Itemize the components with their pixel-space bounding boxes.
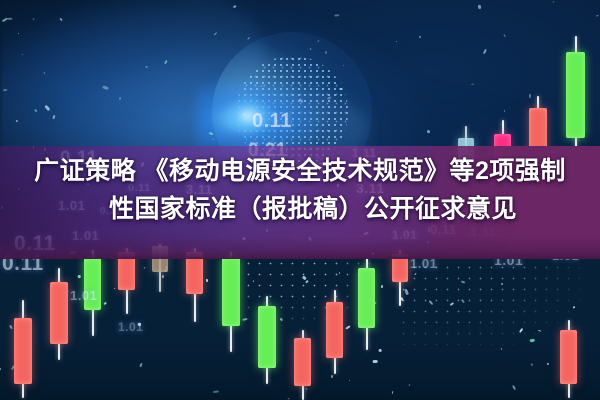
- candle-body: [222, 258, 240, 326]
- sparkle-dot: [212, 138, 215, 140]
- candle-body: [50, 282, 68, 344]
- candle-body: [294, 338, 311, 386]
- candle-body: [14, 318, 32, 384]
- candle-body: [326, 302, 343, 358]
- candle-body: [258, 306, 276, 368]
- headline-line-1: 广证策略 《移动电源安全技术规范》等2项强制: [0, 152, 600, 190]
- banner-image: 0.110.110.111.011.011.010.110.211.010.11…: [0, 0, 600, 400]
- candle-body: [560, 330, 577, 384]
- headline-band-bottom-fade: [0, 236, 600, 259]
- candle-body: [358, 268, 375, 328]
- sparkle-dot: [552, 0, 554, 2]
- headline-text: 广证策略 《移动电源安全技术规范》等2项强制 性国家标准（报批稿）公开征求意见: [0, 152, 600, 228]
- headline-line-2: 性国家标准（报批稿）公开征求意见: [0, 190, 600, 228]
- candle-body: [84, 258, 101, 310]
